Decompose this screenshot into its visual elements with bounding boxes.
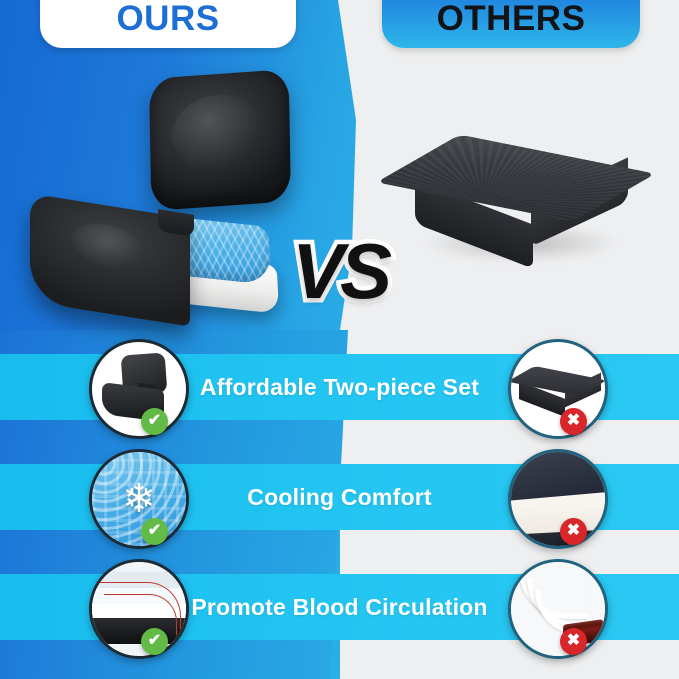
check-glyph: ✔ — [148, 413, 161, 429]
cross-icon: ✖ — [560, 408, 587, 435]
plain-foam-thumbnail-art — [511, 452, 605, 546]
ours-product-image — [22, 62, 322, 330]
ours-feature-thumbnail — [89, 339, 189, 439]
others-product-image — [400, 120, 650, 290]
back-support-cushion-shape — [149, 69, 291, 211]
check-icon: ✔ — [141, 518, 168, 545]
cross-icon: ✖ — [560, 628, 587, 655]
check-icon: ✔ — [141, 408, 168, 435]
others-feature-thumbnail — [508, 339, 608, 439]
cross-glyph: ✖ — [567, 413, 580, 429]
circulation-flow-line-inner — [104, 594, 177, 635]
check-glyph: ✔ — [148, 633, 161, 649]
cross-glyph: ✖ — [567, 633, 580, 649]
feature-row: Cooling Comfort ❄ ✔ ✖ — [0, 442, 679, 552]
cross-icon: ✖ — [560, 518, 587, 545]
check-glyph: ✔ — [148, 523, 161, 539]
single-cushion-thumbnail-art — [511, 342, 605, 436]
two-piece-set-thumbnail-art — [92, 342, 186, 436]
airflow-layers-thumbnail-art — [92, 562, 186, 656]
others-feature-thumbnail — [508, 559, 608, 659]
check-icon: ✔ — [141, 628, 168, 655]
versus-badge: VS — [292, 232, 388, 310]
others-feature-thumbnail — [508, 449, 608, 549]
feature-row: Affordable Two-piece Set ✔ ✖ — [0, 332, 679, 442]
comparison-infographic: OURS OTHERS VS Affordable Two-piece Set — [0, 0, 679, 679]
ours-feature-thumbnail — [89, 559, 189, 659]
ours-feature-thumbnail: ❄ — [89, 449, 189, 549]
others-header-pill: OTHERS — [382, 0, 640, 48]
gel-honeycomb-thumbnail-art: ❄ — [92, 452, 186, 546]
seat-cushion-shape — [30, 202, 280, 318]
compressed-foam-thumbnail-art — [511, 562, 605, 656]
cross-glyph: ✖ — [567, 523, 580, 539]
snowflake-icon: ❄ — [92, 452, 186, 546]
feature-row: Promote Blood Circulation ✔ ✖ — [0, 552, 679, 662]
others-header-label: OTHERS — [437, 1, 586, 48]
ours-header-label: OURS — [116, 1, 219, 48]
snowflake-glyph: ❄ — [122, 476, 156, 522]
ours-header-pill: OURS — [40, 0, 296, 48]
